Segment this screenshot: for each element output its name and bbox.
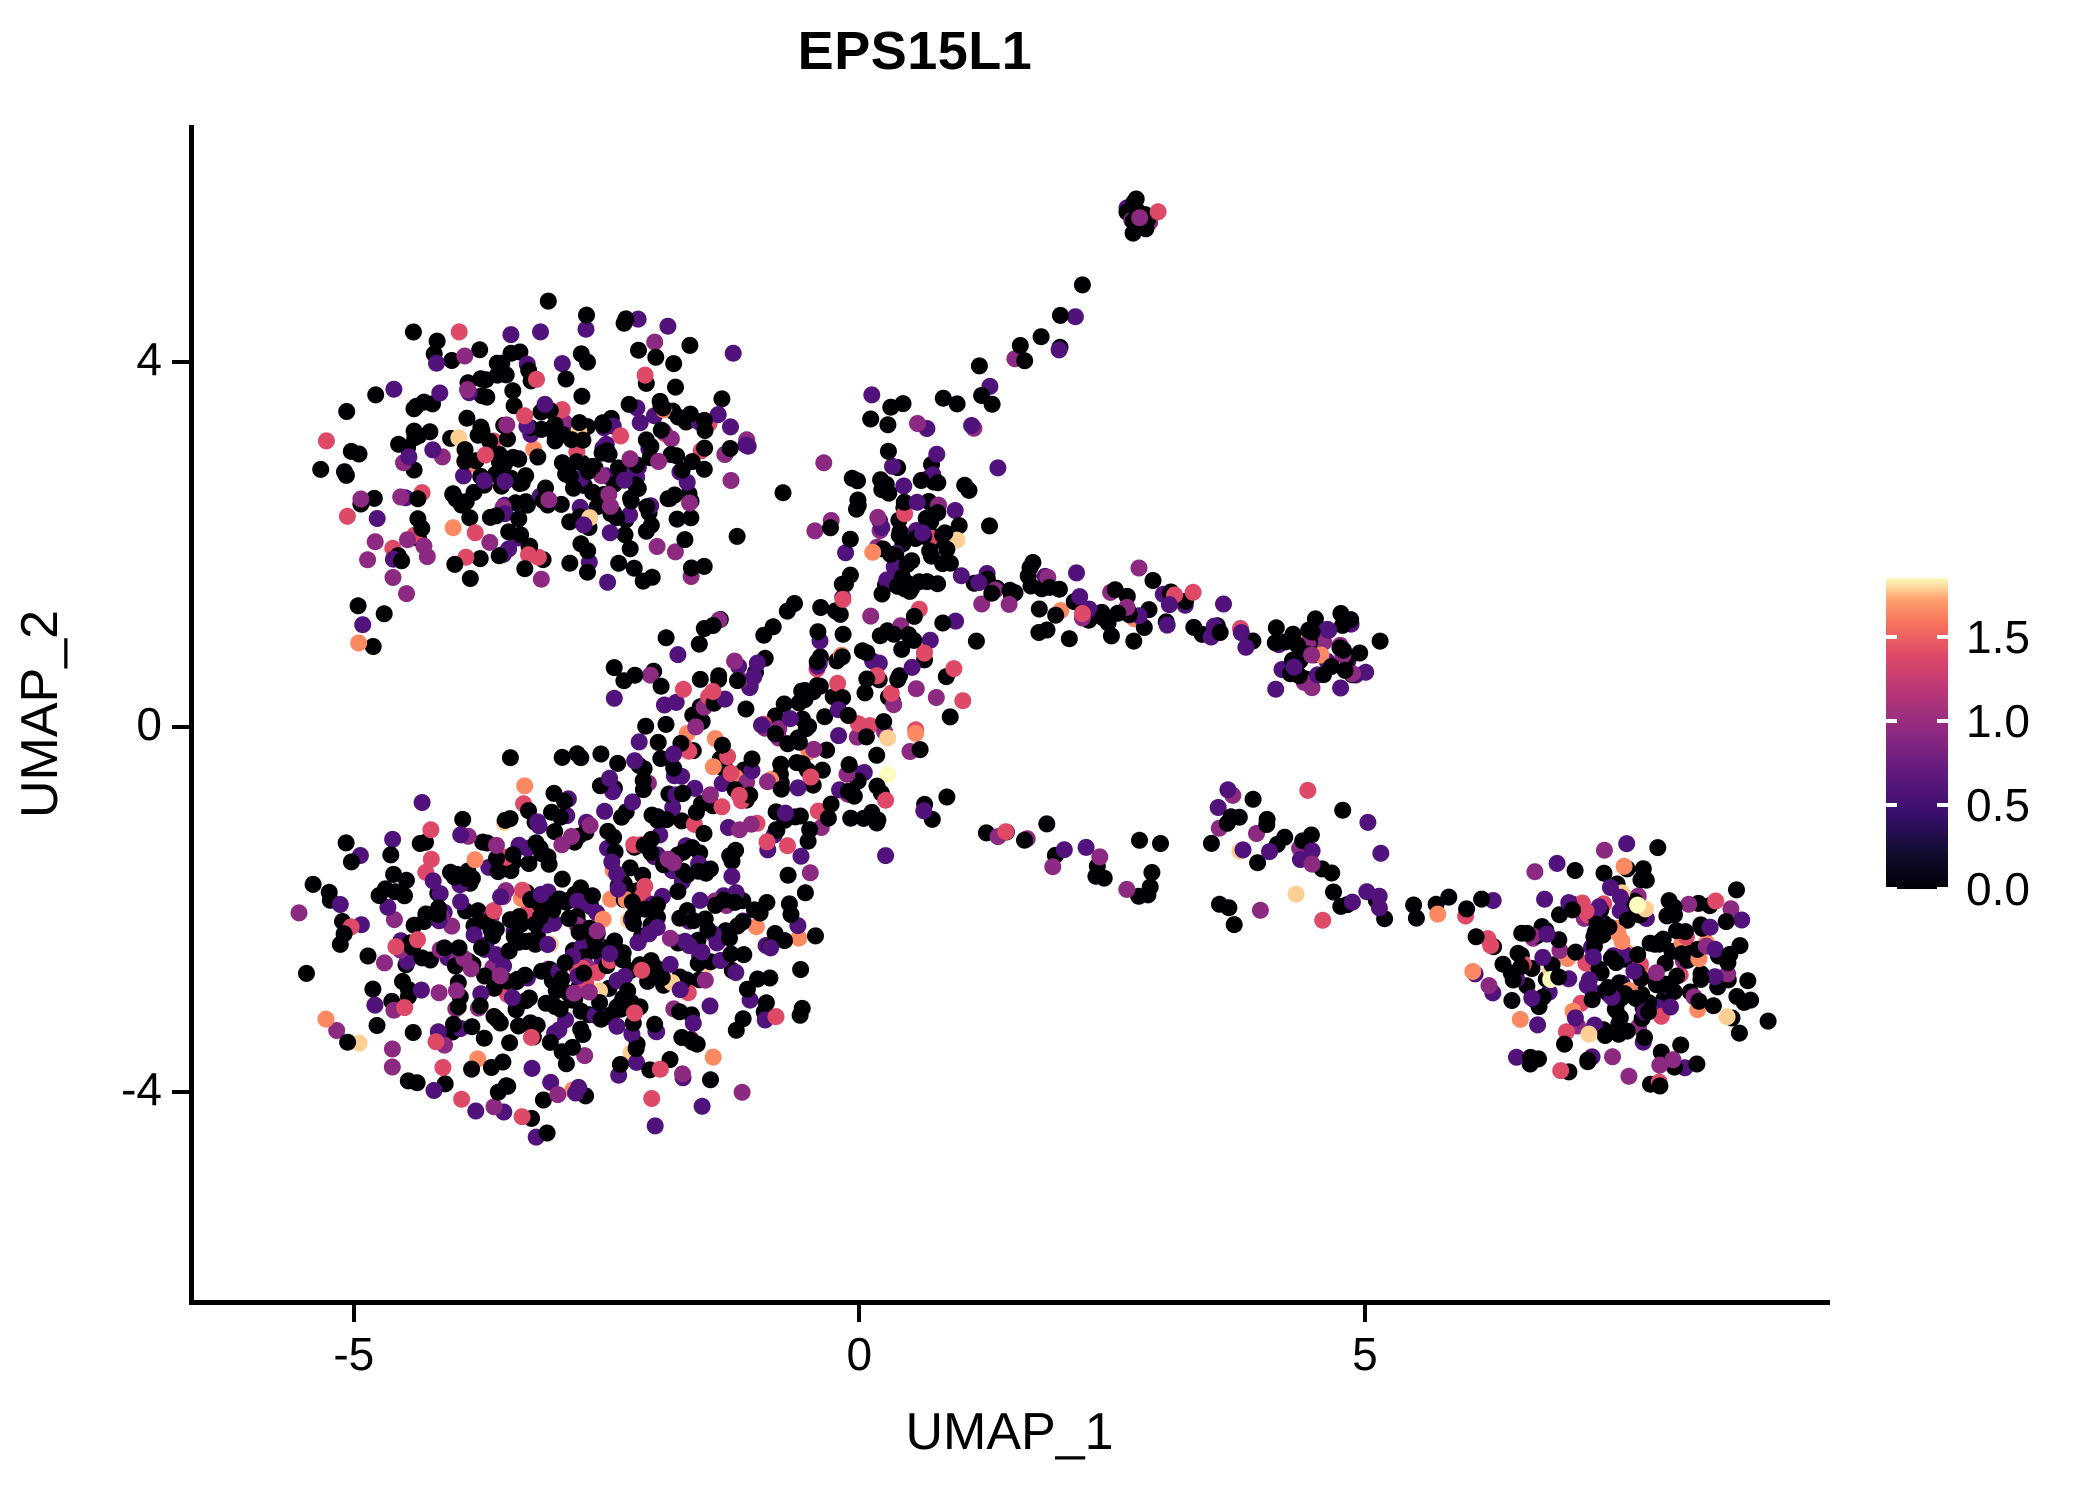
scatter-point — [642, 438, 659, 455]
scatter-point — [367, 386, 384, 403]
scatter-point — [696, 440, 713, 457]
scatter-point — [1585, 949, 1602, 966]
scatter-point — [637, 367, 654, 384]
scatter-point — [765, 618, 782, 635]
scatter-point — [601, 945, 618, 962]
scatter-point — [947, 502, 964, 519]
scatter-point — [451, 939, 468, 956]
scatter-point — [1618, 835, 1635, 852]
scatter-point — [938, 789, 955, 806]
scatter-point — [1261, 843, 1278, 860]
scatter-point — [1277, 633, 1294, 650]
scatter-point — [1372, 845, 1389, 862]
scatter-point — [1666, 983, 1683, 1000]
scatter-point — [877, 792, 894, 809]
scatter-point — [1303, 647, 1320, 664]
scatter-point — [472, 370, 489, 387]
scatter-point — [532, 323, 549, 340]
scatter-point — [649, 538, 666, 555]
scatter-point — [471, 341, 488, 358]
scatter-point — [628, 1040, 645, 1057]
scatter-point — [1733, 912, 1750, 929]
scatter-point — [1672, 1037, 1689, 1054]
scatter-point — [714, 737, 731, 754]
scatter-point — [1252, 902, 1269, 919]
scatter-point — [721, 930, 738, 947]
scatter-point — [1651, 1078, 1668, 1095]
scatter-point — [1078, 839, 1095, 856]
scatter-point — [1161, 596, 1178, 613]
scatter-point — [546, 426, 563, 443]
scatter-point — [913, 472, 930, 489]
scatter-point — [305, 876, 322, 893]
scatter-point — [1629, 946, 1646, 963]
scatter-point — [667, 379, 684, 396]
scatter-point — [502, 326, 519, 343]
x-tick-mark — [1363, 1305, 1367, 1322]
scatter-point — [1051, 341, 1068, 358]
scatter-point — [797, 884, 814, 901]
scatter-point — [726, 653, 743, 670]
scatter-point — [786, 595, 803, 612]
scatter-point — [393, 552, 410, 569]
scatter-point — [1728, 881, 1745, 898]
scatter-point — [1619, 1023, 1636, 1040]
scatter-point — [552, 809, 569, 826]
scatter-point — [541, 856, 558, 873]
scatter-point — [318, 432, 335, 449]
scatter-point — [1319, 621, 1336, 638]
scatter-point — [1668, 922, 1685, 939]
scatter-point — [1692, 971, 1709, 988]
scatter-point — [546, 785, 563, 802]
scatter-point — [1760, 1013, 1777, 1030]
scatter-point — [1668, 968, 1685, 985]
scatter-point — [643, 831, 660, 848]
scatter-point — [533, 571, 550, 588]
scatter-point — [705, 617, 722, 634]
scatter-point — [914, 524, 931, 541]
scatter-point — [1276, 829, 1293, 846]
scatter-point — [1016, 352, 1033, 369]
scatter-point — [734, 914, 751, 931]
scatter-point — [1094, 609, 1111, 626]
scatter-point — [1556, 1036, 1573, 1053]
scatter-point — [909, 494, 926, 511]
scatter-point — [873, 481, 890, 498]
scatter-point — [1691, 993, 1708, 1010]
scatter-point — [692, 892, 709, 909]
scatter-point — [1131, 209, 1148, 226]
scatter-point — [1567, 944, 1584, 961]
scatter-point — [453, 1091, 470, 1108]
scatter-point — [384, 1059, 401, 1076]
scatter-point — [422, 821, 439, 838]
scatter-point — [646, 1016, 663, 1033]
scatter-point — [596, 803, 613, 820]
scatter-point — [1665, 1051, 1682, 1068]
scatter-point — [619, 982, 636, 999]
scatter-point — [573, 388, 590, 405]
scatter-point — [1549, 855, 1566, 872]
scatter-point — [636, 878, 653, 895]
scatter-point — [581, 984, 598, 1001]
scatter-point — [592, 746, 609, 763]
scatter-point — [431, 984, 448, 1001]
scatter-point — [502, 911, 519, 928]
legend-tick-mark — [1886, 635, 1897, 639]
scatter-point — [822, 519, 839, 536]
scatter-point — [504, 382, 521, 399]
color-legend: 1.51.00.50.0 — [1886, 578, 2086, 908]
scatter-point — [792, 961, 809, 978]
scatter-point — [1601, 918, 1618, 935]
scatter-point — [997, 823, 1014, 840]
scatter-point — [842, 567, 859, 584]
scatter-point — [869, 509, 886, 526]
scatter-point — [677, 933, 694, 950]
scatter-point — [644, 569, 661, 586]
scatter-point — [655, 399, 672, 416]
scatter-point — [945, 660, 962, 677]
scatter-point — [1125, 633, 1142, 650]
legend-tick-mark — [1937, 803, 1948, 807]
scatter-point — [783, 906, 800, 923]
scatter-point — [772, 756, 789, 773]
scatter-point — [1024, 554, 1041, 571]
scatter-point — [1299, 782, 1316, 799]
scatter-point — [623, 493, 640, 510]
scatter-point — [1258, 816, 1275, 833]
scatter-point — [662, 956, 679, 973]
scatter-point — [1150, 203, 1167, 220]
scatter-point — [428, 355, 445, 372]
scatter-point — [815, 454, 832, 471]
scatter-point — [884, 458, 901, 475]
scatter-point — [1304, 624, 1321, 641]
scatter-point — [1523, 990, 1540, 1007]
scatter-point — [1596, 842, 1613, 859]
scatter-point — [463, 1061, 480, 1078]
scatter-point — [366, 997, 383, 1014]
scatter-point — [336, 925, 353, 942]
scatter-point — [409, 490, 426, 507]
scatter-point — [731, 787, 748, 804]
scatter-point — [889, 671, 906, 688]
scatter-point — [595, 417, 612, 434]
scatter-point — [1579, 1052, 1596, 1069]
scatter-point — [396, 999, 413, 1016]
scatter-point — [637, 718, 654, 735]
scatter-point — [928, 689, 945, 706]
y-tick-mark — [172, 1090, 189, 1094]
scatter-point — [579, 354, 596, 371]
scatter-point — [1131, 832, 1148, 849]
scatter-point — [670, 409, 687, 426]
scatter-point — [602, 498, 619, 515]
scatter-point — [895, 478, 912, 495]
scatter-point — [1219, 781, 1236, 798]
scatter-point — [702, 1071, 719, 1088]
scatter-point — [744, 751, 761, 768]
scatter-point — [609, 755, 626, 772]
scatter-point — [776, 696, 793, 713]
scatter-point — [862, 411, 879, 428]
scatter-point — [954, 692, 971, 709]
scatter-point — [398, 585, 415, 602]
scatter-point — [376, 605, 393, 622]
scatter-point — [1215, 596, 1232, 613]
scatter-point — [633, 962, 650, 979]
scatter-point — [647, 349, 664, 366]
scatter-point — [612, 427, 629, 444]
scatter-point — [502, 810, 519, 827]
scatter-point — [630, 342, 647, 359]
scatter-point — [641, 925, 658, 942]
scatter-point — [835, 626, 852, 643]
scatter-point — [339, 508, 356, 525]
scatter-point — [528, 371, 545, 388]
scatter-point — [1052, 307, 1069, 324]
scatter-point — [1118, 881, 1135, 898]
scatter-point — [601, 770, 618, 787]
scatter-point — [912, 741, 929, 758]
scatter-point — [1286, 659, 1303, 676]
scatter-point — [638, 498, 655, 515]
scatter-point — [1344, 894, 1361, 911]
scatter-point — [1719, 954, 1736, 971]
scatter-point — [693, 944, 710, 961]
scatter-point — [834, 591, 851, 608]
scatter-point — [660, 490, 677, 507]
scatter-point — [1245, 791, 1262, 808]
scatter-point — [1719, 1008, 1736, 1025]
scatter-point — [665, 746, 682, 763]
scatter-point — [928, 446, 945, 463]
scatter-point — [807, 927, 824, 944]
scatter-point — [432, 885, 449, 902]
scatter-point — [907, 725, 924, 742]
scatter-point — [561, 555, 578, 572]
scatter-point — [880, 443, 897, 460]
scatter-point — [812, 599, 829, 616]
scatter-point — [681, 337, 698, 354]
scatter-point — [809, 623, 826, 640]
scatter-point — [1056, 841, 1073, 858]
scatter-point — [809, 653, 826, 670]
scatter-point — [1288, 886, 1305, 903]
scatter-point — [350, 597, 367, 614]
scatter-point — [488, 921, 505, 938]
scatter-point — [1662, 999, 1679, 1016]
scatter-point — [517, 967, 534, 984]
scatter-point — [472, 419, 489, 436]
scatter-point — [652, 1061, 669, 1078]
page-title: EPS15L1 — [0, 24, 1830, 78]
scatter-point — [528, 834, 545, 851]
scatter-point — [981, 517, 998, 534]
scatter-point — [622, 540, 639, 557]
scatter-point — [405, 324, 422, 341]
scatter-point — [794, 1000, 811, 1017]
scatter-point — [599, 574, 616, 591]
scatter-point — [915, 802, 932, 819]
scatter-point — [875, 713, 892, 730]
scatter-point — [387, 883, 404, 900]
scatter-point — [1661, 892, 1678, 909]
scatter-point — [863, 804, 880, 821]
scatter-point — [675, 681, 692, 698]
scatter-point — [869, 778, 886, 795]
scatter-point — [934, 615, 951, 632]
scatter-point — [572, 535, 589, 552]
scatter-point — [1739, 972, 1756, 989]
scatter-point — [529, 449, 546, 466]
scatter-point — [688, 804, 705, 821]
scatter-point — [369, 1017, 386, 1034]
scatter-point — [582, 817, 599, 834]
scatter-point — [1334, 802, 1351, 819]
scatter-point — [906, 608, 923, 625]
scatter-point — [1325, 884, 1342, 901]
scatter-point — [1351, 645, 1368, 662]
scatter-point — [758, 994, 775, 1011]
scatter-point — [459, 381, 476, 398]
scatter-point — [1552, 1062, 1569, 1079]
scatter-point — [1185, 619, 1202, 636]
scatter-point — [359, 551, 376, 568]
scatter-point — [413, 982, 430, 999]
scatter-point — [405, 1024, 422, 1041]
scatter-point — [448, 982, 465, 999]
scatter-point — [445, 519, 462, 536]
scatter-point — [942, 708, 959, 725]
scatter-point — [1203, 835, 1220, 852]
scatter-point — [683, 560, 700, 577]
scatter-point — [506, 928, 523, 945]
scatter-point — [653, 678, 670, 695]
scatter-point — [879, 730, 896, 747]
scatter-point — [384, 1041, 401, 1058]
legend-tick-mark — [1937, 719, 1948, 723]
scatter-point — [1534, 949, 1551, 966]
scatter-point — [674, 462, 691, 479]
scatter-point — [384, 831, 401, 848]
scatter-point — [669, 511, 686, 528]
x-tick-label: -5 — [274, 1331, 434, 1377]
scatter-point — [516, 407, 533, 424]
scatter-point — [338, 834, 355, 851]
scatter-point — [501, 943, 518, 960]
scatter-point — [936, 524, 953, 541]
scatter-point — [494, 1054, 511, 1071]
scatter-point — [463, 1018, 480, 1035]
scatter-point — [1526, 863, 1543, 880]
scatter-point — [514, 1108, 531, 1125]
scatter-point — [1012, 337, 1029, 354]
scatter-point — [1016, 832, 1033, 849]
scatter-point — [1314, 912, 1331, 929]
scatter-point — [539, 1125, 556, 1142]
scatter-point — [339, 1034, 356, 1051]
scatter-point — [723, 868, 740, 885]
scatter-point — [723, 472, 740, 489]
scatter-point — [419, 548, 436, 565]
scatter-point — [540, 491, 557, 508]
scatter-points-layer — [192, 125, 1830, 1302]
scatter-point — [1538, 926, 1555, 943]
scatter-point — [820, 810, 837, 827]
scatter-point — [605, 829, 622, 846]
legend-colorbar — [1886, 578, 1948, 889]
scatter-point — [594, 445, 611, 462]
scatter-point — [1267, 681, 1284, 698]
scatter-point — [387, 938, 404, 955]
scatter-point — [840, 783, 857, 800]
scatter-point — [501, 1034, 518, 1051]
scatter-point — [740, 438, 757, 455]
scatter-point — [575, 517, 592, 534]
scatter-point — [1233, 624, 1250, 641]
scatter-point — [610, 881, 627, 898]
scatter-point — [558, 371, 575, 388]
scatter-point — [672, 981, 689, 998]
scatter-point — [723, 946, 740, 963]
scatter-point — [621, 396, 638, 413]
scatter-point — [797, 691, 814, 708]
scatter-point — [523, 1029, 540, 1046]
scatter-point — [802, 769, 819, 786]
scatter-point — [713, 798, 730, 815]
scatter-point — [317, 1011, 334, 1028]
scatter-point — [722, 418, 739, 435]
scatter-point — [779, 837, 796, 854]
scatter-point — [1481, 977, 1498, 994]
scatter-point — [1143, 864, 1160, 881]
scatter-point — [446, 556, 463, 573]
scatter-point — [791, 734, 808, 751]
scatter-point — [877, 847, 894, 864]
scatter-point — [1613, 933, 1630, 950]
scatter-point — [516, 777, 533, 794]
x-tick-label: 0 — [779, 1331, 939, 1377]
scatter-point — [414, 794, 431, 811]
scatter-point — [1096, 870, 1113, 887]
scatter-point — [685, 1015, 702, 1032]
scatter-point — [1335, 642, 1352, 659]
scatter-point — [554, 970, 571, 987]
scatter-point — [759, 833, 776, 850]
scatter-point — [653, 422, 670, 439]
scatter-point — [894, 569, 911, 586]
scatter-point — [702, 998, 719, 1015]
scatter-point — [1458, 900, 1475, 917]
scatter-point — [511, 475, 528, 492]
scatter-point — [1680, 896, 1697, 913]
scatter-point — [458, 870, 475, 887]
scatter-point — [351, 446, 368, 463]
scatter-point — [1323, 658, 1340, 675]
scatter-point — [1031, 601, 1048, 618]
scatter-point — [472, 997, 489, 1014]
scatter-point — [569, 893, 586, 910]
scatter-plot-panel — [192, 125, 1830, 1302]
scatter-point — [872, 627, 889, 644]
scatter-point — [635, 781, 652, 798]
scatter-point — [782, 710, 799, 727]
scatter-point — [702, 861, 719, 878]
scatter-point — [743, 816, 760, 833]
